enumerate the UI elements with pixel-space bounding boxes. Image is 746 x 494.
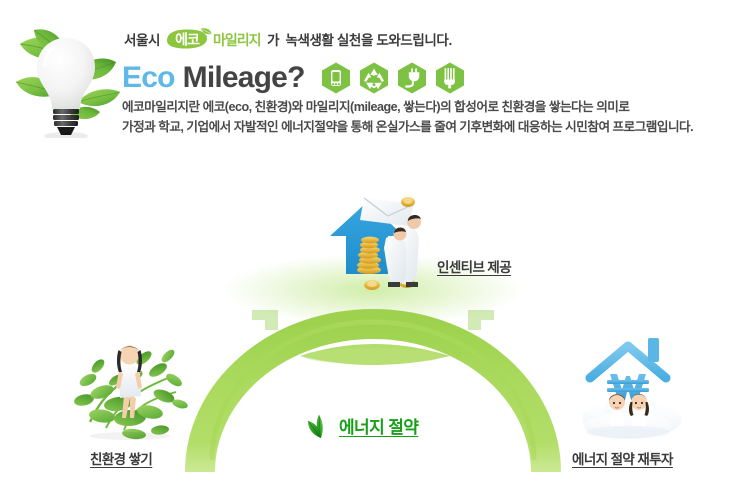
recycle-icon (357, 61, 391, 95)
tagline-particle: 가 (267, 29, 279, 49)
description-line-1: 에코마일리지란 에코(eco, 친환경)와 마일리지(mileage, 쌓는다)… (122, 97, 738, 117)
sprout-icon (305, 409, 337, 441)
eco-lightbulb-icon (8, 16, 124, 138)
tagline-prefix: 서울시 (124, 29, 160, 49)
tagline: 서울시 에코 마일리지 가 녹색생활 실천을 도와드립니다. (124, 26, 452, 52)
eco-mileage-infographic: 서울시 에코 마일리지 가 녹색생활 실천을 도와드립니다. Eco Milea… (0, 0, 746, 494)
plug-icon (395, 61, 429, 95)
label-energy-saving: 에너지 절약 (339, 413, 418, 438)
lightbulb-icon (433, 61, 467, 95)
label-eco-build: 친환경 쌓기 (90, 448, 152, 468)
description-block: 에코마일리지란 에코(eco, 친환경)와 마일리지(mileage, 쌓는다)… (122, 97, 738, 137)
cycle-diagram: 인센티브 제공 친환경 쌓기 에너지 절약 재투자 (0, 160, 746, 494)
svg-text:에코: 에코 (175, 32, 200, 48)
eco-mileage-logo: 에코 마일리지 (166, 27, 262, 51)
hex-icon-row (319, 61, 467, 95)
eco-build-illustration (72, 318, 198, 440)
title-eco: Eco (122, 63, 175, 93)
label-reinvest: 에너지 절약 재투자 (572, 448, 673, 468)
bin-icon (319, 61, 353, 95)
label-incentive: 인센티브 제공 (437, 256, 511, 276)
page-title: Eco Mileage? (122, 58, 467, 98)
description-line-2: 가정과 학교, 기업에서 자발적인 에너지절약을 통해 온실가스를 줄여 기후변… (122, 117, 738, 137)
header-section: 서울시 에코 마일리지 가 녹색생활 실천을 도와드립니다. Eco Milea… (0, 0, 746, 160)
title-mileage: Mileage? (183, 63, 305, 93)
tagline-suffix: 녹색생활 실천을 도와드립니다. (285, 29, 451, 49)
center-label-group: 에너지 절약 (305, 408, 418, 442)
svg-text:마일리지: 마일리지 (213, 32, 261, 48)
incentive-illustration (322, 190, 444, 295)
reinvest-illustration (562, 322, 694, 444)
